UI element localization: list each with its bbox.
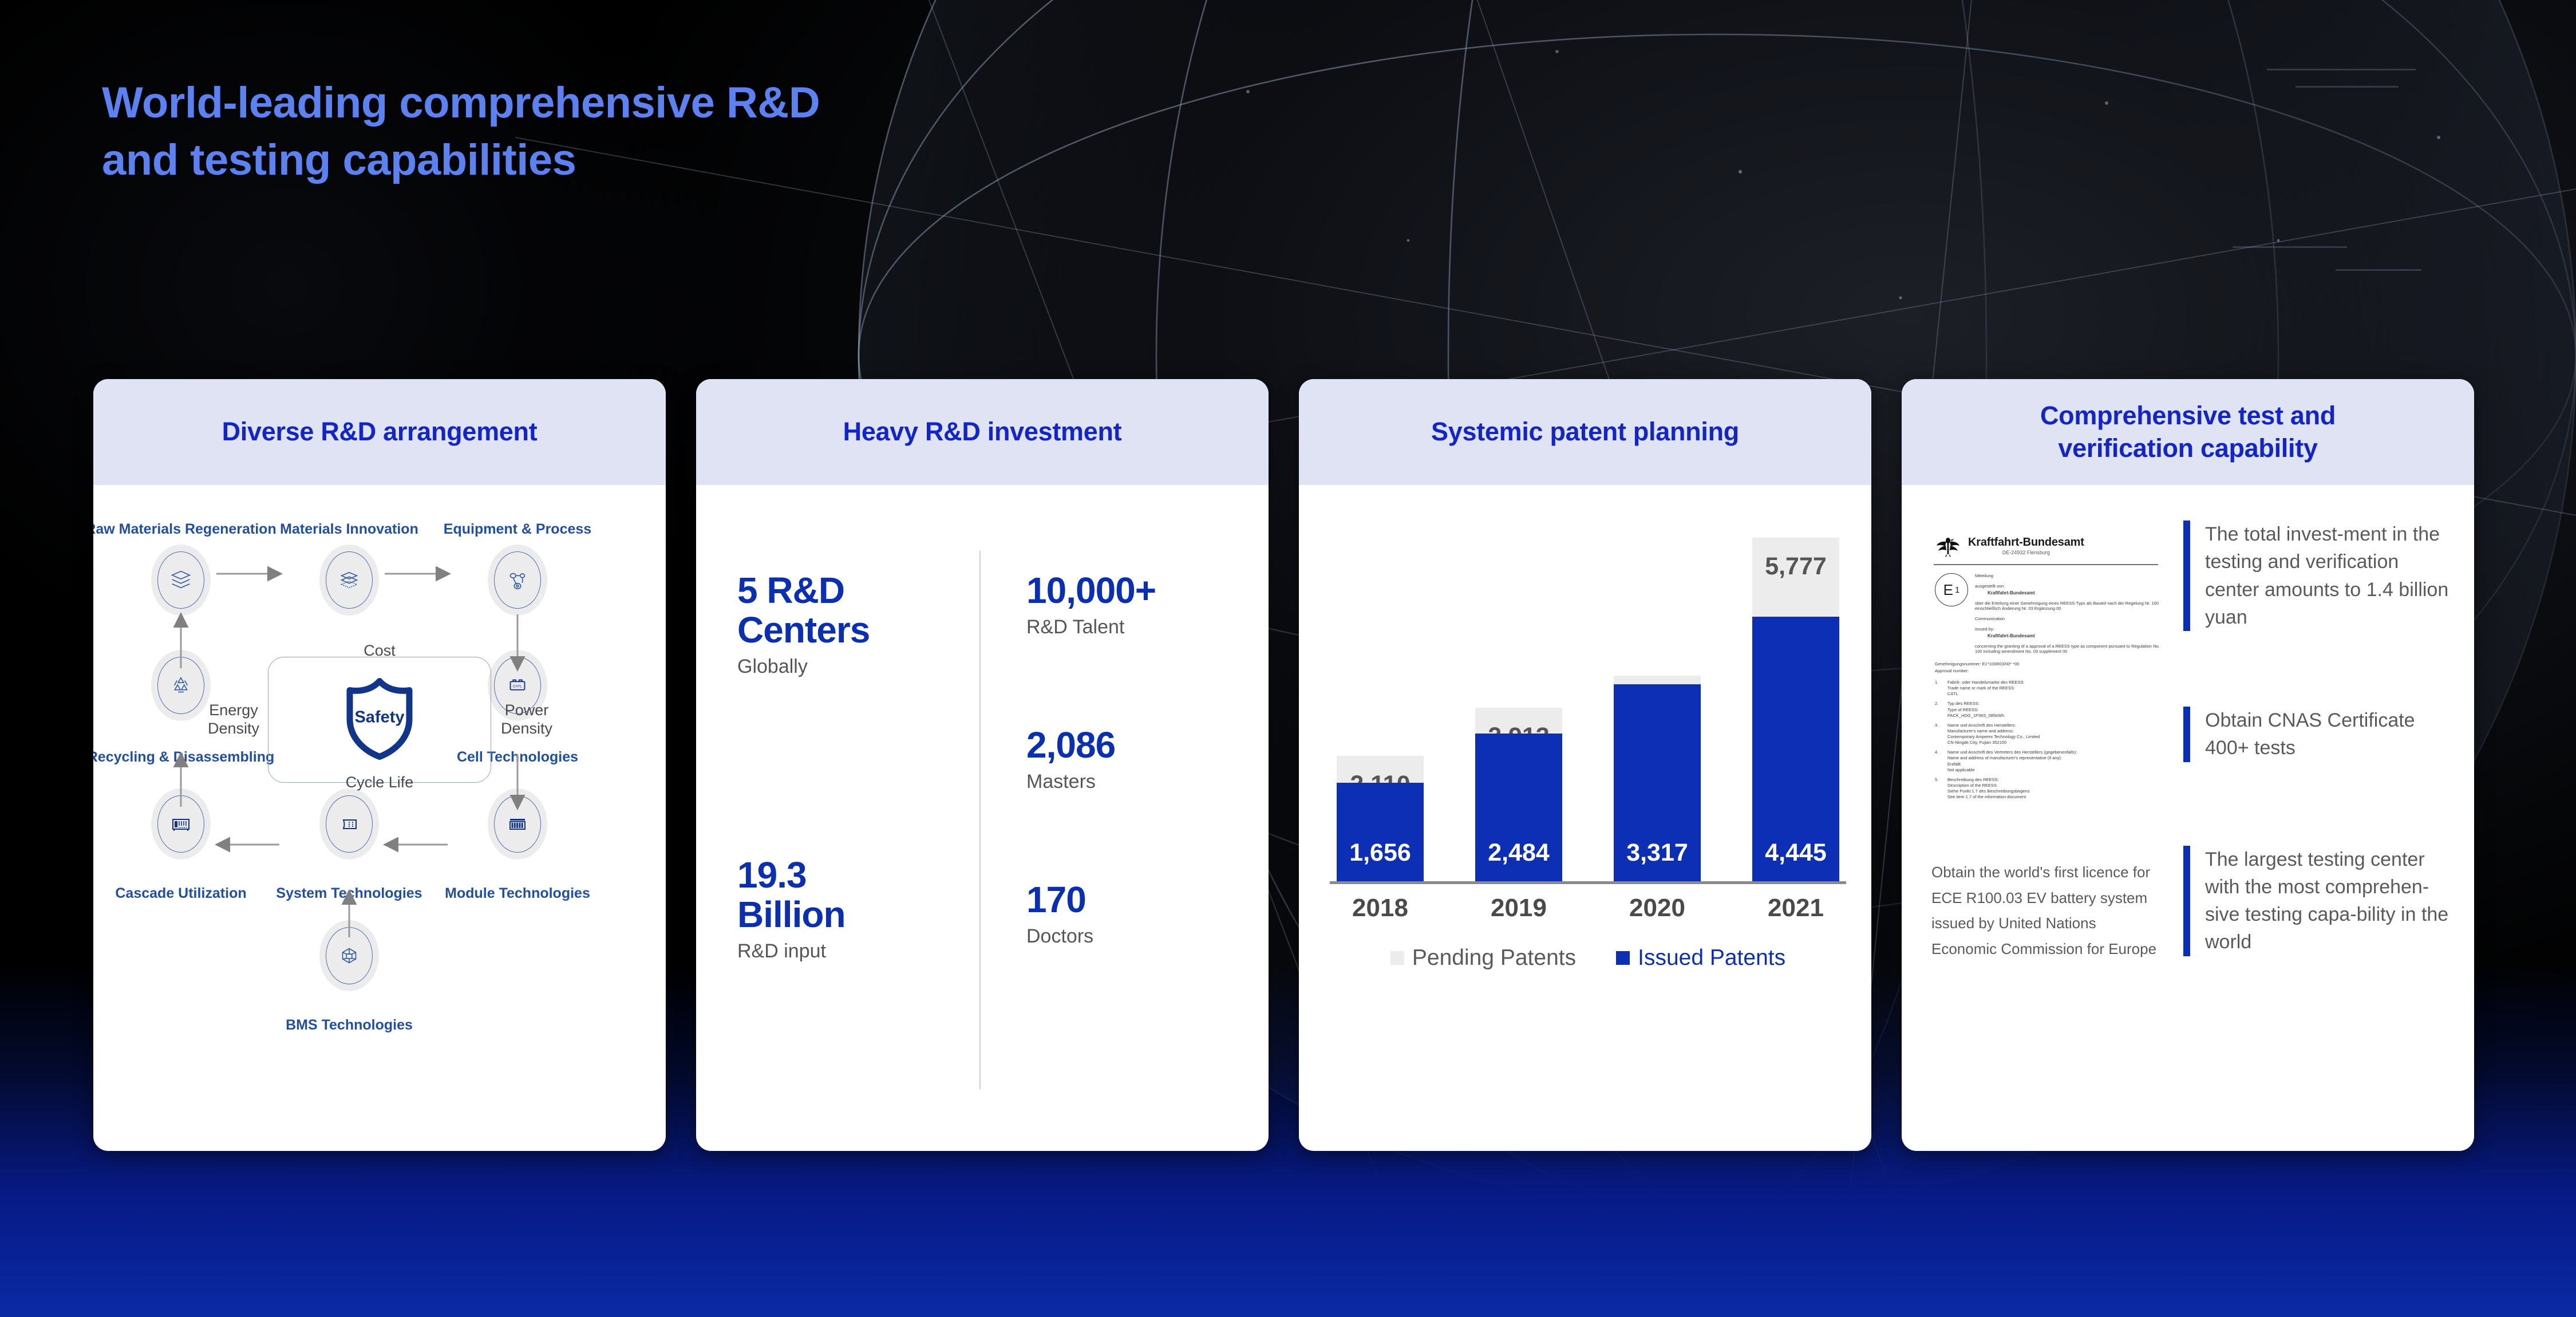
e1-number: 1 — [1955, 585, 1959, 595]
legend-item-issued-patents[interactable]: Issued Patents — [1616, 945, 1785, 971]
card-title: Comprehensive test and verification capa… — [2040, 400, 2336, 464]
certificate-caption: Obtain the world's first licence for ECE… — [1931, 859, 2160, 962]
center-label-energy-density: Energy Density — [191, 701, 276, 738]
certificate-item-text: Fabrik- oder Handelsmarke des REESS: Tra… — [1947, 680, 2025, 697]
stat-caption: Globally — [737, 656, 979, 678]
bar-value-label-issued: 1,656 — [1349, 839, 1411, 867]
x-tick-label: 2018 — [1337, 894, 1424, 922]
certificate-item-text: Beschreibung des REESS: Description of t… — [1947, 777, 2029, 801]
certificate-item-number: 3. — [1935, 723, 1942, 746]
stat-masters: 2,086 Masters — [1026, 725, 1269, 793]
certificate-line: Communication — [1975, 616, 2160, 621]
card-grid: Diverse R&D arrangement Raw Materials Re… — [93, 379, 2474, 1151]
stat-value: 19.3 Billion — [737, 855, 979, 934]
certificate-item: 1.Fabrik- oder Handelsmarke des REESS: T… — [1935, 680, 2160, 697]
bar-group[interactable]: 5,7774,445 — [1752, 538, 1839, 881]
bar-segment-issued: 1,656 — [1337, 783, 1424, 881]
bar-group[interactable]: 2,1101,656 — [1337, 538, 1424, 881]
e1-approval-mark: E1 — [1935, 573, 1968, 606]
certificate-authority: Kraftfahrt-Bundesamt — [1968, 536, 2084, 549]
chart-plot-area: 2,1101,6562,9132,4843,4543,3175,7774,445 — [1337, 538, 1839, 881]
center-label-power-density: Power Density — [484, 701, 570, 738]
chart-x-axis — [1330, 881, 1846, 884]
stat-value: 2,086 — [1026, 725, 1269, 765]
chart-legend: Pending Patents Issued Patents — [1337, 945, 1839, 971]
fact-accent-bar — [2183, 521, 2190, 631]
stat-rd-centers: 5 R&D Centers Globally — [737, 571, 979, 678]
bar-group[interactable]: 2,9132,484 — [1475, 538, 1562, 881]
certificate-body: E1 Mitteilung ausgestellt von: Kraftfahr… — [1931, 573, 2160, 656]
certificate-text-block: Mitteilung ausgestellt von: Kraftfahrt-B… — [1975, 573, 2160, 656]
stat-value: 170 — [1026, 880, 1269, 920]
bar-group[interactable]: 3,4543,317 — [1614, 538, 1701, 881]
certificate-line: issued by: — [1975, 626, 2160, 632]
stat-caption: R&D input — [737, 940, 979, 963]
bar-segment-pending: 5,777 — [1752, 538, 1839, 617]
certificate-approval-number: Genehmigungsnummer: E1*100R03/00* *00 Ap… — [1931, 656, 2160, 680]
certificate-column: Kraftfahrt-Bundesamt DE-24932 Flensburg … — [1902, 485, 2174, 1151]
certificate-item: 2.Typ des REESS: Type of REESS: PACK_HDG… — [1935, 701, 2160, 718]
card-title: Systemic patent planning — [1431, 416, 1739, 448]
certificate-item-text: Name und Anschrift des Vertreters des He… — [1947, 750, 2077, 773]
card-comprehensive-test-verification: Comprehensive test and verification capa… — [1902, 379, 2474, 1151]
e1-letter: E — [1943, 581, 1953, 599]
fact-text: The total invest-ment in the testing and… — [2205, 521, 2449, 631]
card-header: Heavy R&D investment — [696, 379, 1269, 485]
x-tick-label: 2020 — [1614, 894, 1701, 922]
investment-stats: 5 R&D Centers Globally 19.3 Billion R&D … — [696, 485, 1269, 1151]
chart-x-tick-labels: 2018201920202021 — [1337, 894, 1839, 922]
facts-column: The total invest-ment in the testing and… — [2174, 485, 2474, 1151]
fact-cnas-certificate: Obtain CNAS Certificate 400+ tests — [2183, 707, 2449, 762]
chart-bars: 2,1101,6562,9132,4843,4543,3175,7774,445 — [1337, 538, 1839, 881]
certificate-item-list: 1.Fabrik- oder Handelsmarke des REESS: T… — [1931, 680, 2160, 800]
certificate-item-number: 5. — [1935, 777, 1942, 801]
certificate-item-text: Name und Anschrift des Herstellers: Manu… — [1947, 723, 2040, 746]
card-header: Comprehensive test and verification capa… — [1902, 379, 2474, 485]
certificate-item-number: 4. — [1935, 750, 1942, 773]
card-header: Systemic patent planning — [1299, 379, 1871, 485]
safety-shield: Safety — [342, 677, 417, 763]
card-body: Raw Materials Regeneration Materials Inn… — [93, 485, 666, 1151]
certificate-item: 4.Name und Anschrift des Vertreters des … — [1935, 750, 2160, 773]
center-label-cycle-life: Cycle Life — [268, 774, 491, 792]
rd-cycle-diagram: Raw Materials Regeneration Materials Inn… — [93, 485, 666, 1151]
card-heavy-rd-investment: Heavy R&D investment 5 R&D Centers Globa… — [696, 379, 1269, 1151]
stat-value: 10,000+ — [1026, 571, 1269, 610]
certificate-line: Mitteilung — [1975, 573, 2160, 578]
kba-certificate-image[interactable]: Kraftfahrt-Bundesamt DE-24932 Flensburg … — [1931, 530, 2160, 850]
x-tick-label: 2019 — [1475, 894, 1562, 922]
certificate-line: Kraftfahrt-Bundesamt — [1988, 633, 2160, 638]
svg-text:Safety: Safety — [354, 708, 404, 727]
legend-label: Issued Patents — [1638, 945, 1785, 971]
card-title: Diverse R&D arrangement — [222, 416, 538, 448]
stat-rd-talent: 10,000+ R&D Talent — [1026, 571, 1269, 638]
certificate-line: Kraftfahrt-Bundesamt — [1988, 590, 2160, 596]
card-diverse-rd-arrangement: Diverse R&D arrangement Raw Materials Re… — [93, 379, 666, 1151]
stat-value: 5 R&D Centers — [737, 571, 979, 650]
bar-segment-issued: 2,484 — [1475, 734, 1562, 881]
certificate-item: 3.Name und Anschrift des Herstellers: Ma… — [1935, 723, 2160, 746]
stat-rd-input: 19.3 Billion R&D input — [737, 855, 979, 963]
card-header: Diverse R&D arrangement — [93, 379, 666, 485]
approval-number-en: Approval number: — [1935, 668, 2160, 673]
fact-text: Obtain CNAS Certificate 400+ tests — [2205, 707, 2449, 762]
stats-column-right: 10,000+ R&D Talent 2,086 Masters 170 Doc… — [979, 485, 1269, 1151]
stat-doctors: 170 Doctors — [1026, 880, 1269, 948]
certificate-line: concerning the granting of a approval of… — [1975, 644, 2160, 654]
bar-segment-issued: 4,445 — [1752, 617, 1839, 881]
bar-value-label-issued: 4,445 — [1765, 839, 1827, 867]
stat-caption: Masters — [1026, 771, 1269, 793]
x-tick-label: 2021 — [1752, 894, 1839, 922]
stats-divider — [979, 551, 981, 1089]
bar-value-label-pending: 5,777 — [1765, 553, 1827, 581]
legend-item-pending-patents[interactable]: Pending Patents — [1390, 945, 1576, 971]
certificate-rule — [1934, 564, 2158, 565]
bar-segment-issued: 3,317 — [1614, 684, 1701, 882]
stats-column-left: 5 R&D Centers Globally 19.3 Billion R&D … — [696, 485, 979, 1151]
page-title: World-leading comprehensive R&D and test… — [102, 74, 820, 190]
legend-swatch-pending — [1390, 951, 1404, 965]
card-body: 2,1101,6562,9132,4843,4543,3175,7774,445… — [1299, 485, 1871, 1151]
test-verification-content: Kraftfahrt-Bundesamt DE-24932 Flensburg … — [1902, 485, 2474, 1151]
card-body: 5 R&D Centers Globally 19.3 Billion R&D … — [696, 485, 1269, 1151]
stat-caption: R&D Talent — [1026, 616, 1269, 638]
card-title: Heavy R&D investment — [843, 416, 1122, 448]
card-body: Kraftfahrt-Bundesamt DE-24932 Flensburg … — [1902, 485, 2474, 1151]
center-label-cost: Cost — [268, 642, 491, 660]
certificate-item: 5.Beschreibung des REESS: Description of… — [1935, 777, 2160, 801]
bar-value-label-issued: 2,484 — [1488, 839, 1550, 867]
bar-segment-pending: 3,454 — [1614, 676, 1701, 684]
certificate-item-text: Typ des REESS: Type of REESS: PACK_HDG_1… — [1947, 701, 2004, 718]
legend-label: Pending Patents — [1412, 945, 1576, 971]
certificate-item-number: 2. — [1935, 701, 1942, 718]
fact-investment: The total invest-ment in the testing and… — [2183, 521, 2449, 631]
certificate-address: DE-24932 Flensburg — [1968, 550, 2084, 555]
fact-accent-bar — [2183, 846, 2190, 956]
certificate-header: Kraftfahrt-Bundesamt DE-24932 Flensburg — [1931, 530, 2160, 561]
legend-swatch-issued — [1616, 951, 1630, 965]
german-eagle-icon — [1936, 533, 1960, 558]
bar-segment-pending: 2,913 — [1475, 708, 1562, 734]
fact-text: The largest testing center with the most… — [2205, 846, 2449, 956]
bar-value-label-issued: 3,317 — [1626, 839, 1688, 867]
approval-number-de: Genehmigungsnummer: E1*100R03/00* *00 — [1935, 661, 2160, 667]
fact-accent-bar — [2183, 707, 2190, 762]
card-systemic-patent-planning: Systemic patent planning 2,1101,6562,913… — [1299, 379, 1871, 1151]
fact-largest-testing-center: The largest testing center with the most… — [2183, 846, 2449, 956]
bar-segment-pending: 2,110 — [1337, 756, 1424, 783]
shield-icon: Safety — [342, 677, 417, 760]
certificate-line: ausgestellt von: — [1975, 583, 2160, 589]
patent-chart: 2,1101,6562,9132,4843,4543,3175,7774,445… — [1337, 538, 1839, 1111]
certificate-line: über die Erteilung einer Genehmigung ein… — [1975, 601, 2160, 611]
stat-caption: Doctors — [1026, 925, 1269, 948]
certificate-item-number: 1. — [1935, 680, 1942, 697]
